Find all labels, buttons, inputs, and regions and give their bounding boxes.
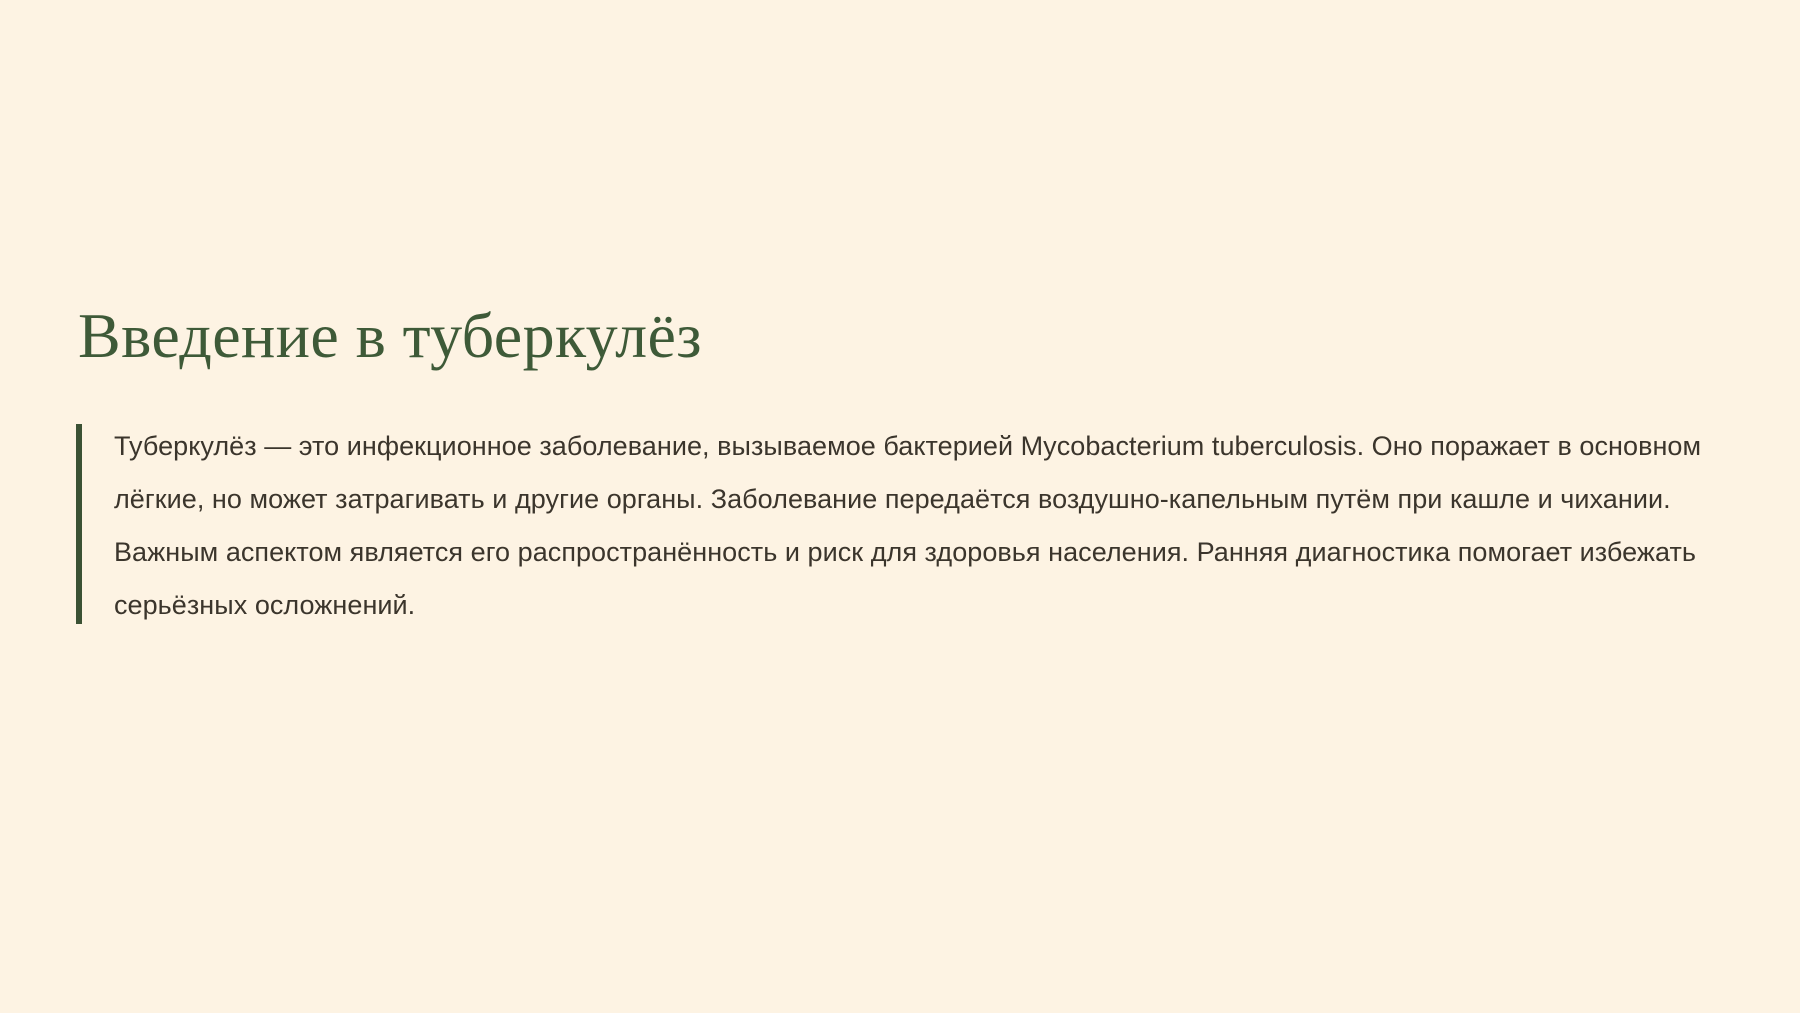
page-title: Введение в туберкулёз xyxy=(70,300,1750,372)
body-paragraph: Туберкулёз — это инфекционное заболевани… xyxy=(114,420,1714,632)
accent-bar xyxy=(76,424,82,624)
body-quote-block: Туберкулёз — это инфекционное заболевани… xyxy=(70,420,1750,632)
slide-canvas: Введение в туберкулёз Туберкулёз — это и… xyxy=(0,0,1800,1013)
slide-content: Введение в туберкулёз Туберкулёз — это и… xyxy=(70,300,1750,632)
